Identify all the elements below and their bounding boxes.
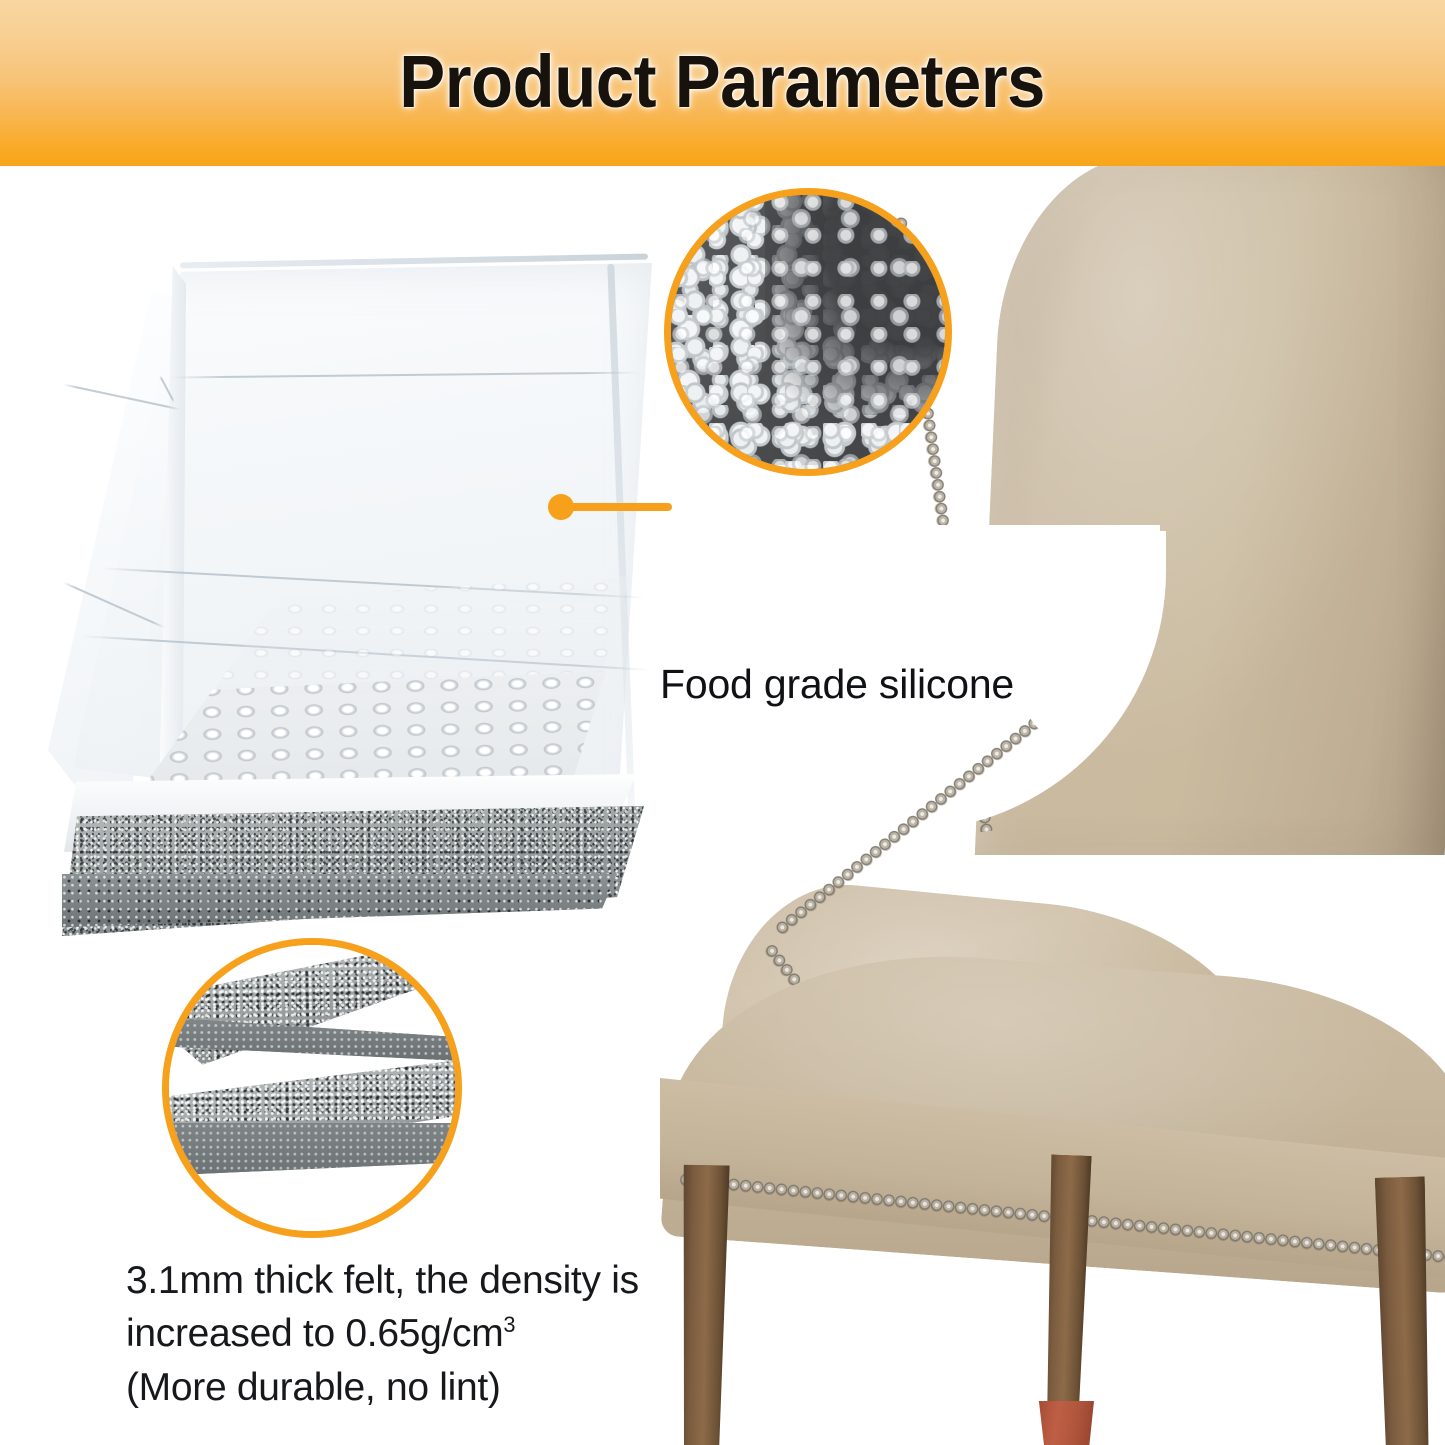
felt-pad-thickness <box>62 874 662 946</box>
felt-caption-superscript: 3 <box>503 1312 515 1337</box>
silicone-dark-background <box>765 188 952 415</box>
callout-circle-felt <box>162 938 462 1238</box>
callout-circle-silicone <box>664 188 952 476</box>
felt-caption-line-2: increased to 0.65g/cm3 <box>126 1307 639 1360</box>
felt-caption-line-1: 3.1mm thick felt, the density is <box>126 1254 639 1307</box>
silicone-pellets-image <box>671 195 945 469</box>
content-stage: Food grade silicone 3.1mm thick felt, th… <box>0 166 1445 1445</box>
felt-macro-image <box>169 945 455 1231</box>
page-title-text: Product Parameters <box>400 39 1046 124</box>
felt-caption-line-3: (More durable, no lint) <box>126 1361 639 1414</box>
callout-dot-silicone <box>548 494 574 520</box>
leg-cap-center <box>1036 1401 1094 1445</box>
felt-caption-line-2-text: increased to 0.65g/cm <box>126 1312 503 1355</box>
leader-line-silicone <box>562 503 672 511</box>
chair-leg-front-left <box>676 1165 729 1445</box>
header-banner: Product Parameters <box>0 0 1445 166</box>
callout-label-felt: 3.1mm thick felt, the density is increas… <box>126 1254 639 1414</box>
callout-label-silicone: Food grade silicone <box>660 661 1014 708</box>
felt-slab-lower-edge <box>169 1123 455 1231</box>
page-title: Product Parameters <box>0 39 1445 124</box>
product-illustration <box>40 246 680 986</box>
